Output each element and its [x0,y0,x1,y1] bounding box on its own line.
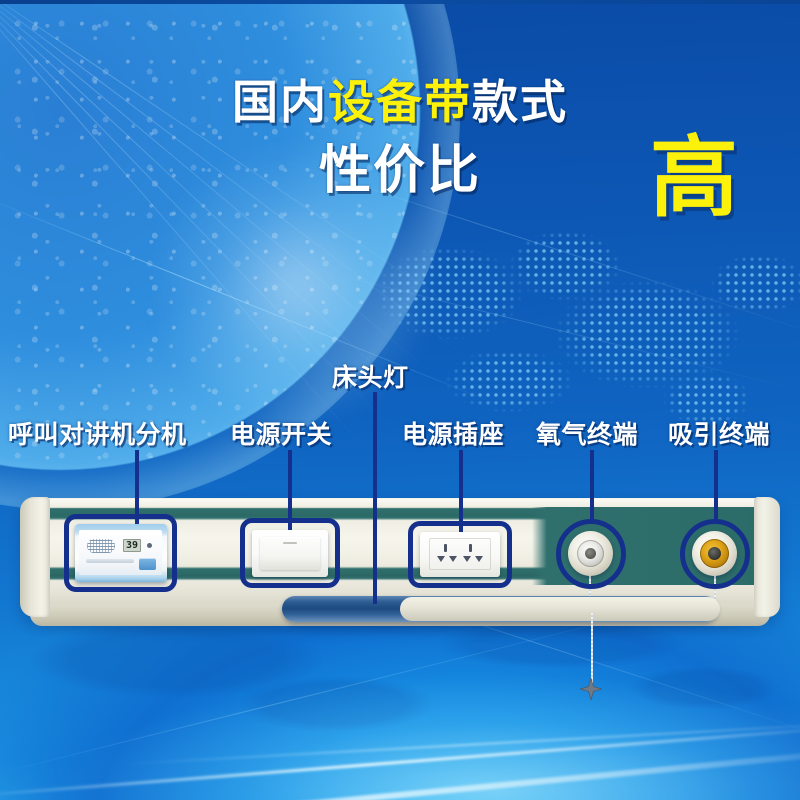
promo-banner: 国内设备带款式 性价比 高 呼叫对讲机分机 电源开关 床头灯 电源插座 氧气终端… [0,0,800,800]
callout-labels-group: 呼叫对讲机分机 电源开关 床头灯 电源插座 氧气终端 吸引终端 [0,0,800,800]
callout-label-bed-lamp: 床头灯 [332,358,409,394]
callout-label-intercom: 呼叫对讲机分机 [8,415,187,451]
callout-label-oxygen: 氧气终端 [536,415,638,451]
callout-label-power-switch: 电源开关 [230,415,332,451]
callout-label-power-socket: 电源插座 [402,415,504,451]
callout-label-suction: 吸引终端 [668,415,770,451]
